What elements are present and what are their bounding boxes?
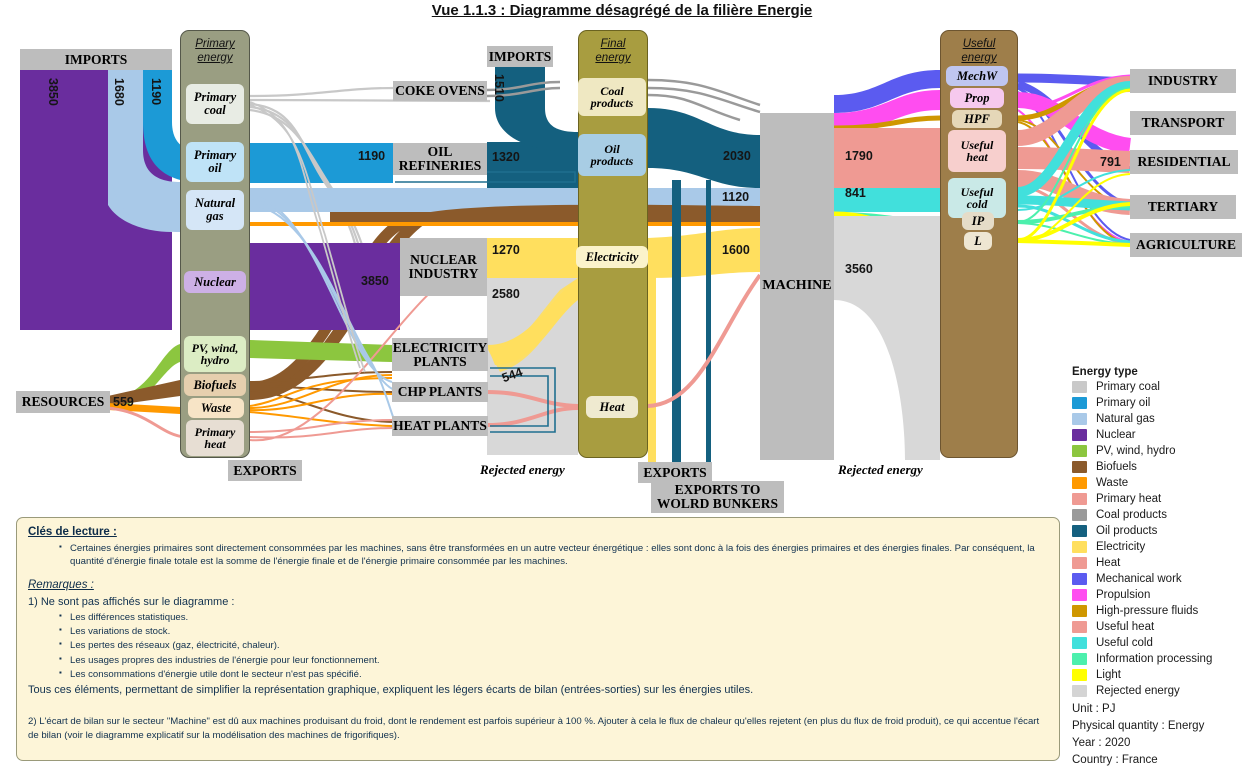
legend-label: Waste [1096, 477, 1128, 489]
legend-item: Nuclear [1072, 427, 1244, 443]
box-sector-industry[interactable]: INDUSTRY [1130, 69, 1236, 93]
legend-label: Nuclear [1096, 429, 1136, 441]
legend-swatch [1072, 573, 1087, 585]
notes-item-2: 2) L'écart de bilan sur le secteur "Mach… [28, 715, 1048, 744]
box-sector-tertiary[interactable]: TERTIARY [1130, 195, 1236, 219]
flow-waste-band [250, 222, 760, 226]
legend-swatch [1072, 413, 1087, 425]
legend-label: Biofuels [1096, 461, 1137, 473]
node-waste[interactable]: Waste [188, 398, 244, 418]
node-propulsion[interactable]: Prop [950, 88, 1004, 108]
legend-swatch [1072, 509, 1087, 521]
legend-item: Primary coal [1072, 379, 1244, 395]
legend-swatch [1072, 685, 1087, 697]
legend-swatch [1072, 669, 1087, 681]
legend-item: Electricity [1072, 539, 1244, 555]
useful-energy-header: Useful energy [941, 37, 1017, 66]
notes-closing: Tous ces éléments, permettant de simplif… [28, 683, 1048, 698]
legend-item: Light [1072, 667, 1244, 683]
list-item: Les consommations d'énergie utile dont l… [70, 669, 1048, 682]
notes-panel: Clés de lecture : Certaines énergies pri… [16, 517, 1060, 761]
box-oil-refineries[interactable]: OIL REFINERIES [393, 143, 487, 175]
legend-physical-quantity: Physical quantity : Energy [1072, 718, 1244, 735]
legend-item: Useful cold [1072, 635, 1244, 651]
node-high-pressure-fluids[interactable]: HPF [952, 110, 1002, 128]
label-rejected-energy-right: Rejected energy [838, 462, 923, 478]
legend-swatch [1072, 557, 1087, 569]
list-item: Les usages propres des industries de l'é… [70, 655, 1048, 668]
list-item: Les variations de stock. [70, 626, 1048, 639]
legend-swatch [1072, 397, 1087, 409]
node-electricity[interactable]: Electricity [576, 246, 648, 268]
notes-bullets-hidden: Les différences statistiques. Les variat… [28, 612, 1048, 681]
value-machine-useful-heat: 1790 [845, 149, 873, 163]
legend-swatch [1072, 493, 1087, 505]
value-imports-gas: 1680 [112, 78, 126, 106]
value-oil-to-refineries: 1190 [358, 149, 385, 163]
node-primary-coal[interactable]: Primary coal [186, 84, 244, 124]
list-item: Certaines énergies primaires sont direct… [70, 543, 1048, 568]
node-heat[interactable]: Heat [586, 396, 638, 418]
node-nuclear[interactable]: Nuclear [184, 271, 246, 293]
legend-item: Mechanical work [1072, 571, 1244, 587]
box-machine[interactable]: MACHINE [760, 113, 834, 460]
legend-item: Information processing [1072, 651, 1244, 667]
legend-label: Rejected energy [1096, 685, 1180, 697]
value-imports-oilproducts: 1510 [492, 74, 506, 102]
node-primary-heat[interactable]: Primary heat [186, 420, 244, 456]
legend-label: Mechanical work [1096, 573, 1182, 585]
legend-swatch [1072, 429, 1087, 441]
flow-oilprod-to-machine [648, 108, 760, 188]
box-imports-mid[interactable]: IMPORTS [487, 46, 553, 67]
box-coke-ovens[interactable]: COKE OVENS [393, 81, 487, 101]
flow-imports-oilproducts [495, 66, 578, 152]
node-useful-heat[interactable]: Useful heat [948, 130, 1006, 172]
node-information-processing[interactable]: IP [962, 212, 994, 230]
legend-item: Primary heat [1072, 491, 1244, 507]
legend-item: Rejected energy [1072, 683, 1244, 699]
legend-item: Primary oil [1072, 395, 1244, 411]
legend-country: Country : France [1072, 752, 1244, 769]
node-coal-products[interactable]: Coal products [578, 78, 646, 116]
value-imports-oil: 1190 [149, 78, 163, 105]
primary-energy-header: Primary energy [181, 37, 249, 66]
legend-unit: Unit : PJ [1072, 701, 1244, 718]
legend-swatch [1072, 621, 1087, 633]
box-sector-transport[interactable]: TRANSPORT [1130, 111, 1236, 135]
legend-label: Coal products [1096, 509, 1167, 521]
legend-item: Biofuels [1072, 459, 1244, 475]
box-nuclear-industry[interactable]: NUCLEAR INDUSTRY [400, 238, 487, 296]
legend-label: Natural gas [1096, 413, 1155, 425]
value-oilproducts-to-machine: 2030 [723, 149, 751, 163]
label-rejected-energy-left: Rejected energy [480, 462, 565, 478]
legend-swatch [1072, 653, 1087, 665]
flow-exports-oil-vertical [672, 180, 711, 490]
legend-item: PV, wind, hydro [1072, 443, 1244, 459]
legend-label: High-pressure fluids [1096, 605, 1198, 617]
legend-swatch [1072, 477, 1087, 489]
legend-item: Waste [1072, 475, 1244, 491]
value-nuclear-rejected: 2580 [492, 287, 520, 301]
value-imports-nuclear: 3850 [46, 78, 60, 106]
legend-swatch [1072, 445, 1087, 457]
legend-panel: Energy type Primary coalPrimary oilNatur… [1072, 366, 1244, 769]
legend-item: High-pressure fluids [1072, 603, 1244, 619]
legend-rows: Primary coalPrimary oilNatural gasNuclea… [1072, 379, 1244, 699]
legend-label: Light [1096, 669, 1121, 681]
legend-swatch [1072, 541, 1087, 553]
legend-label: Information processing [1096, 653, 1212, 665]
legend-label: Propulsion [1096, 589, 1150, 601]
box-electricity-plants[interactable]: ELECTRICITY PLANTS [392, 338, 488, 371]
box-resources[interactable]: RESOURCES [16, 391, 110, 413]
flow-thin-grey [250, 102, 365, 372]
value-machine-useful-cold: 841 [845, 186, 866, 200]
node-pv-wind-hydro[interactable]: PV, wind, hydro [184, 336, 246, 372]
value-machine-rejected: 3560 [845, 262, 873, 276]
value-nuclear-electricity: 1270 [492, 243, 520, 257]
legend-label: Primary coal [1096, 381, 1160, 393]
notes-bullets-reading: Certaines énergies primaires sont direct… [28, 543, 1048, 568]
legend-label: Primary oil [1096, 397, 1150, 409]
box-exports-left[interactable]: EXPORTS [228, 460, 302, 481]
list-item: Les pertes des réseaux (gaz, électricité… [70, 640, 1048, 653]
value-gas-to-machine: 1120 [722, 190, 749, 204]
node-oil-products[interactable]: Oil products [578, 134, 646, 176]
legend-label: Electricity [1096, 541, 1145, 553]
notes-item-1: 1) Ne sont pas affichés sur le diagramme… [28, 595, 1048, 610]
flow-biofuel-band [330, 212, 760, 222]
notes-heading: Clés de lecture : [28, 525, 1048, 540]
legend-meta: Unit : PJ Physical quantity : Energy Yea… [1072, 701, 1244, 769]
value-refineries-to-oilproducts: 1320 [492, 150, 520, 164]
box-exports-world-bunkers[interactable]: EXPORTS TO WOLRD BUNKERS [651, 481, 784, 513]
value-useful-to-residential: 791 [1100, 155, 1121, 169]
node-primary-oil[interactable]: Primary oil [186, 142, 244, 182]
legend-item: Useful heat [1072, 619, 1244, 635]
value-electricity-to-machine: 1600 [722, 243, 750, 257]
box-exports-mid[interactable]: EXPORTS [638, 462, 712, 483]
final-energy-header: Final energy [579, 37, 647, 66]
node-natural-gas[interactable]: Natural gas [186, 190, 244, 230]
node-mechanical-work[interactable]: MechW [946, 66, 1008, 86]
box-imports-left[interactable]: IMPORTS [20, 49, 172, 70]
box-sector-agriculture[interactable]: AGRICULTURE [1130, 233, 1242, 257]
legend-item: Propulsion [1072, 587, 1244, 603]
legend-swatch [1072, 381, 1087, 393]
legend-title: Energy type [1072, 366, 1244, 378]
box-heat-plants[interactable]: HEAT PLANTS [392, 416, 488, 436]
legend-year: Year : 2020 [1072, 735, 1244, 752]
legend-label: Heat [1096, 557, 1120, 569]
list-item: Les différences statistiques. [70, 612, 1048, 625]
notes-heading-remarks: Remarques : [28, 578, 1048, 593]
node-biofuels[interactable]: Biofuels [184, 374, 246, 396]
legend-swatch [1072, 461, 1087, 473]
legend-swatch [1072, 605, 1087, 617]
legend-swatch [1072, 525, 1087, 537]
legend-label: Oil products [1096, 525, 1157, 537]
legend-item: Heat [1072, 555, 1244, 571]
legend-label: Useful heat [1096, 621, 1154, 633]
legend-item: Coal products [1072, 507, 1244, 523]
value-resources-in: 559 [113, 395, 134, 409]
flow-electricity-exports [648, 262, 656, 462]
legend-swatch [1072, 589, 1087, 601]
legend-swatch [1072, 637, 1087, 649]
node-light[interactable]: L [964, 232, 992, 250]
legend-label: PV, wind, hydro [1096, 445, 1175, 457]
legend-label: Primary heat [1096, 493, 1161, 505]
value-nuclear-to-industry: 3850 [361, 274, 389, 288]
legend-item: Oil products [1072, 523, 1244, 539]
box-sector-residential[interactable]: RESIDENTIAL [1130, 150, 1238, 174]
legend-label: Useful cold [1096, 637, 1153, 649]
legend-item: Natural gas [1072, 411, 1244, 427]
box-chp-plants[interactable]: CHP PLANTS [392, 382, 488, 402]
